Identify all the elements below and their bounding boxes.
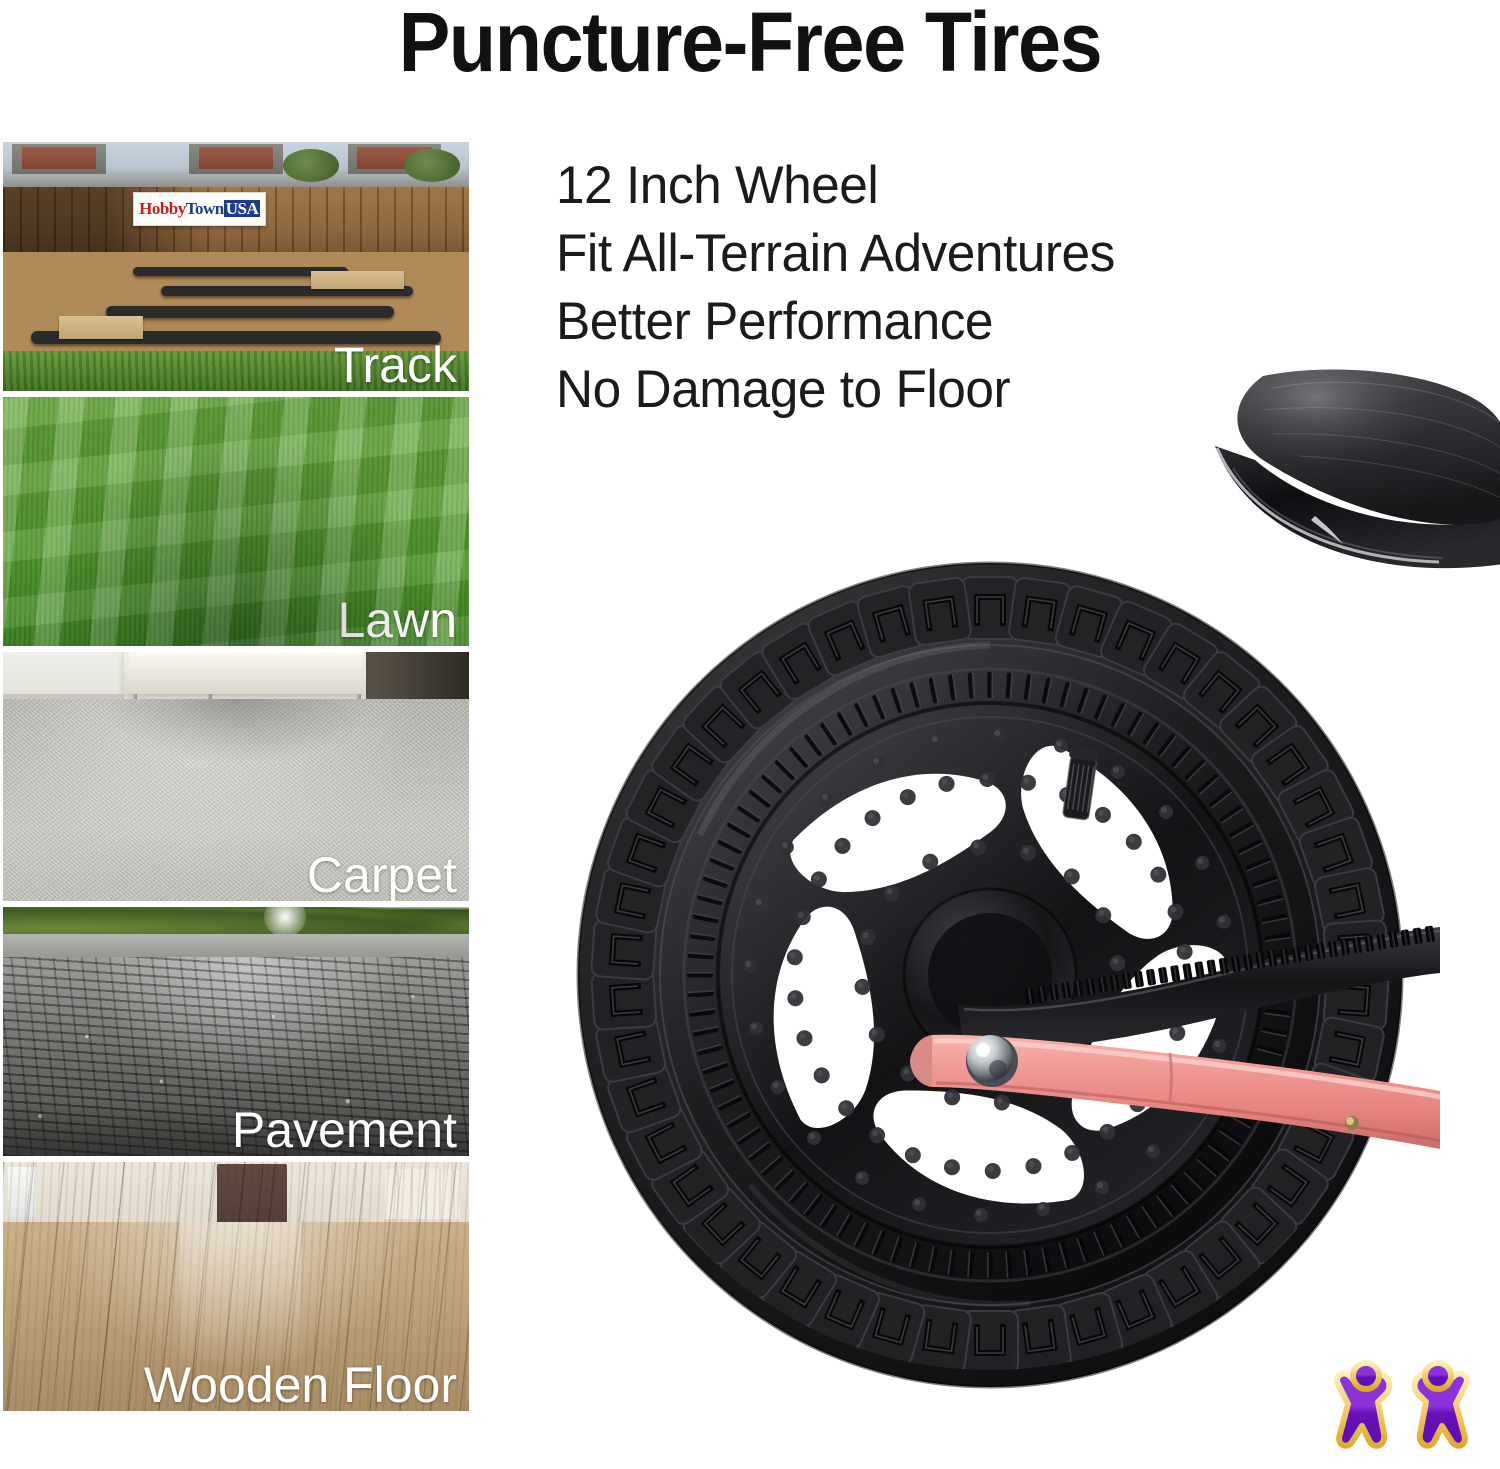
feature-line-2: Fit All-Terrain Adventures <box>556 220 1293 288</box>
surface-tile-track: HobbyTownUSA Track <box>3 142 469 391</box>
sofa-shadow <box>96 699 376 764</box>
feature-line-3: Better Performance <box>556 288 1293 356</box>
surface-label-carpet: Carpet <box>307 843 457 901</box>
surface-tile-lawn: Lawn <box>3 397 469 646</box>
feature-line-4: No Damage to Floor <box>556 356 1293 424</box>
dark-background <box>366 652 469 699</box>
banner-text-1: Hobby <box>139 200 186 217</box>
child-figure-right <box>1415 1363 1467 1446</box>
sofa-cushion <box>129 652 362 671</box>
plywood-ramp <box>59 316 143 338</box>
surface-thumbnail-strip: HobbyTownUSA Track Lawn Carpet <box>3 142 469 1417</box>
surface-tile-wooden-floor: Wooden Floor <box>3 1162 469 1411</box>
wheel-tire-photo <box>560 535 1440 1425</box>
axle-bolt <box>966 1035 1018 1087</box>
tree <box>404 149 460 181</box>
roof <box>199 147 274 169</box>
banner-text-3: USA <box>224 200 261 217</box>
surface-label-wooden-floor: Wooden Floor <box>144 1353 457 1411</box>
feature-line-1: 12 Inch Wheel <box>556 152 1293 220</box>
track-berm <box>106 306 395 317</box>
surface-tile-carpet: Carpet <box>3 652 469 901</box>
surface-tile-pavement: Pavement <box>3 907 469 1156</box>
roof <box>22 147 97 169</box>
page-title: Puncture-Free Tires <box>60 0 1440 91</box>
banner-text-2: Town <box>186 200 224 217</box>
tree <box>283 149 339 181</box>
surface-label-lawn: Lawn <box>337 588 457 646</box>
plywood-ramp <box>311 271 404 288</box>
child-figure-left <box>1337 1363 1389 1446</box>
hobbytown-banner: HobbyTownUSA <box>133 192 265 226</box>
surface-label-track: Track <box>334 333 457 391</box>
surface-label-pavement: Pavement <box>232 1098 457 1156</box>
feature-list: 12 Inch Wheel Fit All-Terrain Adventures… <box>556 152 1316 424</box>
brand-logo <box>1322 1348 1482 1460</box>
floor-reflection <box>180 1222 301 1371</box>
white-sofa <box>124 652 366 694</box>
